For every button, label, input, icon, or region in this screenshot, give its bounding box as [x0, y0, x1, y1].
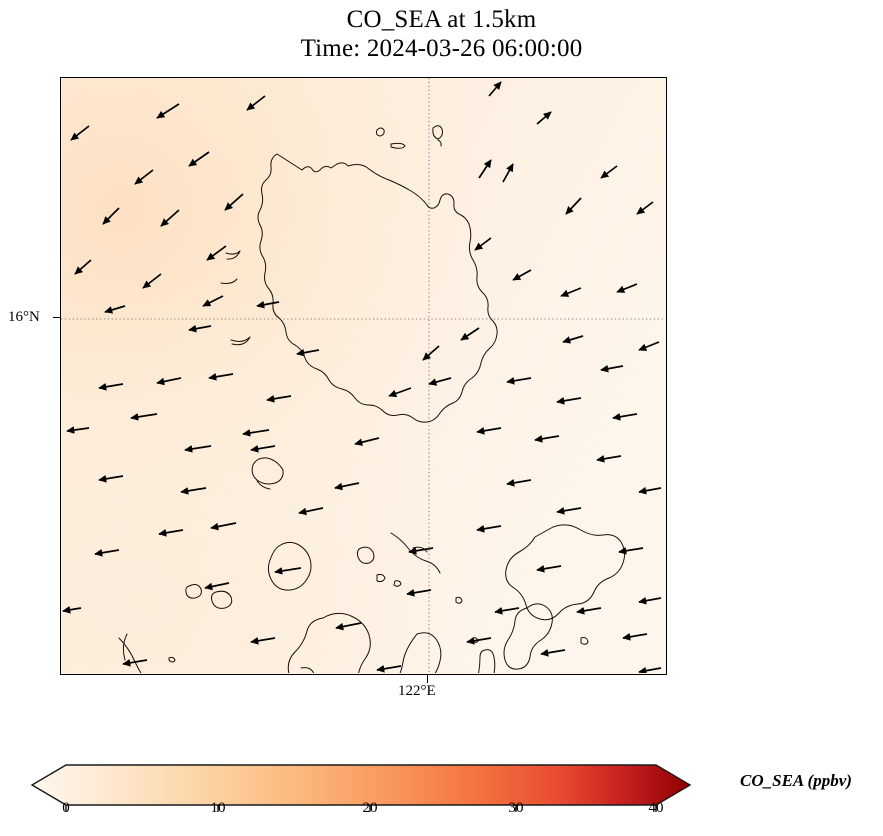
colorbar-title: CO_SEA (ppbv): [740, 771, 852, 791]
colorbar-tick-label-40: 40: [649, 800, 664, 817]
longitude-axis-label: 122°E: [398, 683, 436, 700]
colorbar-ticks: [66, 805, 656, 812]
colorbar-group[interactable]: 0 10 20 30 40 CO_SEA (ppbv): [0, 755, 883, 836]
latitude-axis-label: 16°N: [8, 309, 40, 326]
colorbar-tick-label-20: 20: [363, 800, 378, 817]
co-concentration-field: [61, 78, 665, 673]
figure-title: CO_SEA at 1.5km: [0, 6, 883, 34]
figure-title-block: CO_SEA at 1.5km Time: 2024-03-26 06:00:0…: [0, 6, 883, 63]
map-canvas: [61, 78, 665, 673]
colorbar-tick-label-10: 10: [211, 800, 226, 817]
map-plot-area[interactable]: [60, 77, 667, 675]
colorbar-gradient-bar[interactable]: [32, 765, 690, 805]
latitude-tick-mark: [53, 317, 61, 318]
colorbar-tick-label-0: 0: [62, 800, 70, 817]
colorbar-tick-label-30: 30: [509, 800, 524, 817]
longitude-tick-mark: [427, 675, 428, 683]
figure-subtitle-time: Time: 2024-03-26 06:00:00: [0, 35, 883, 63]
